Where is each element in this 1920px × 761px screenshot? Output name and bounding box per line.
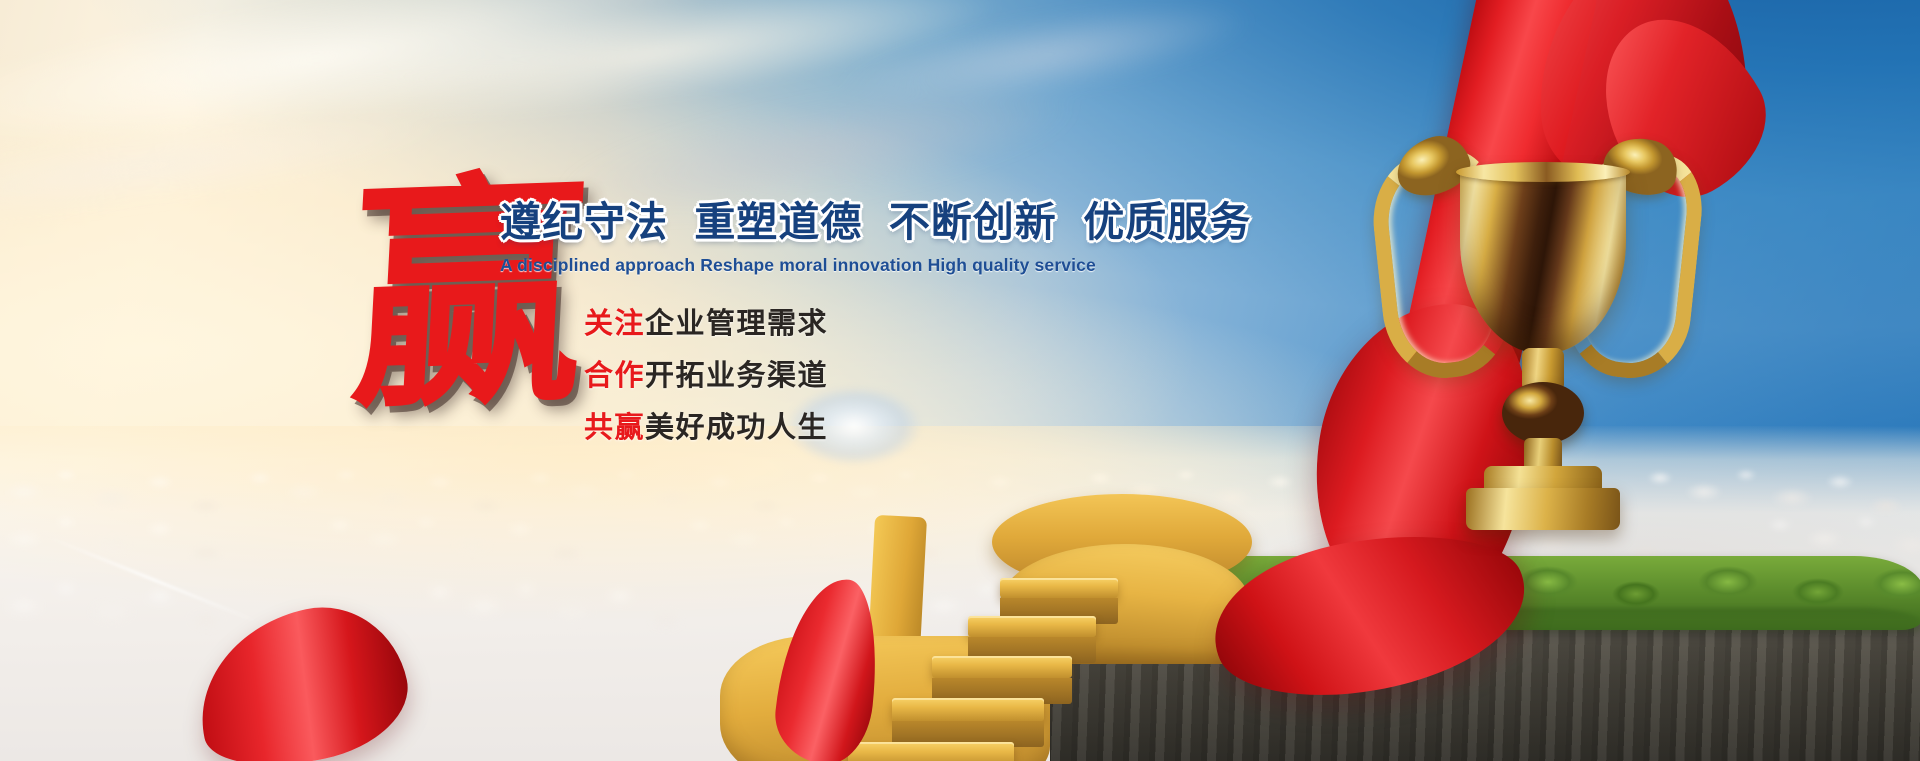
promo-banner: 赢 遵纪守法 重塑道德 不断创新 优质服务 A disciplined appr… xyxy=(0,0,1920,761)
headline-segment-1: 遵纪守法 xyxy=(500,199,668,245)
tagline-rest-1: 企业管理需求 xyxy=(645,308,828,340)
red-ribbon-left-flame xyxy=(196,612,416,761)
tagline-highlight-1: 关注 xyxy=(584,308,645,340)
trophy-knob xyxy=(1502,382,1584,444)
gold-trophy xyxy=(1372,108,1702,528)
tagline-item-1: 关注企业管理需求 xyxy=(584,298,1140,350)
tagline-item-3: 共赢美好成功人生 xyxy=(584,402,1140,454)
banner-copy-block: 遵纪守法 重塑道德 不断创新 优质服务 A disciplined approa… xyxy=(500,196,1140,454)
red-ribbon-center-flame xyxy=(780,578,900,761)
ribbon-flame-shape xyxy=(183,592,420,761)
red-ribbon-lower xyxy=(1210,500,1540,730)
tagline-item-2: 合作开拓业务渠道 xyxy=(584,350,1140,402)
headline-segment-4: 优质服务 xyxy=(1083,199,1251,245)
ribbon-flame-shape xyxy=(771,573,886,761)
ribbon-tail xyxy=(1181,517,1559,714)
tagline-highlight-2: 合作 xyxy=(584,360,645,392)
tagline-rest-3: 美好成功人生 xyxy=(645,412,828,444)
stair-step xyxy=(892,698,1044,721)
trophy-rim xyxy=(1456,162,1630,182)
trophy-base xyxy=(1466,488,1620,530)
stair-step xyxy=(1000,578,1118,598)
stair-step xyxy=(968,616,1096,637)
headline-segment-2: 重塑道德 xyxy=(694,199,862,245)
headline-segment-3: 不断创新 xyxy=(889,199,1057,245)
subtitle-english: A disciplined approach Reshape moral inn… xyxy=(500,255,1140,276)
stair-step xyxy=(932,656,1072,678)
headline: 遵纪守法 重塑道德 不断创新 优质服务 xyxy=(500,196,1140,248)
tagline-highlight-3: 共赢 xyxy=(584,412,645,444)
tagline-list: 关注企业管理需求 合作开拓业务渠道 共赢美好成功人生 xyxy=(500,298,1140,454)
tagline-rest-2: 开拓业务渠道 xyxy=(645,360,828,392)
